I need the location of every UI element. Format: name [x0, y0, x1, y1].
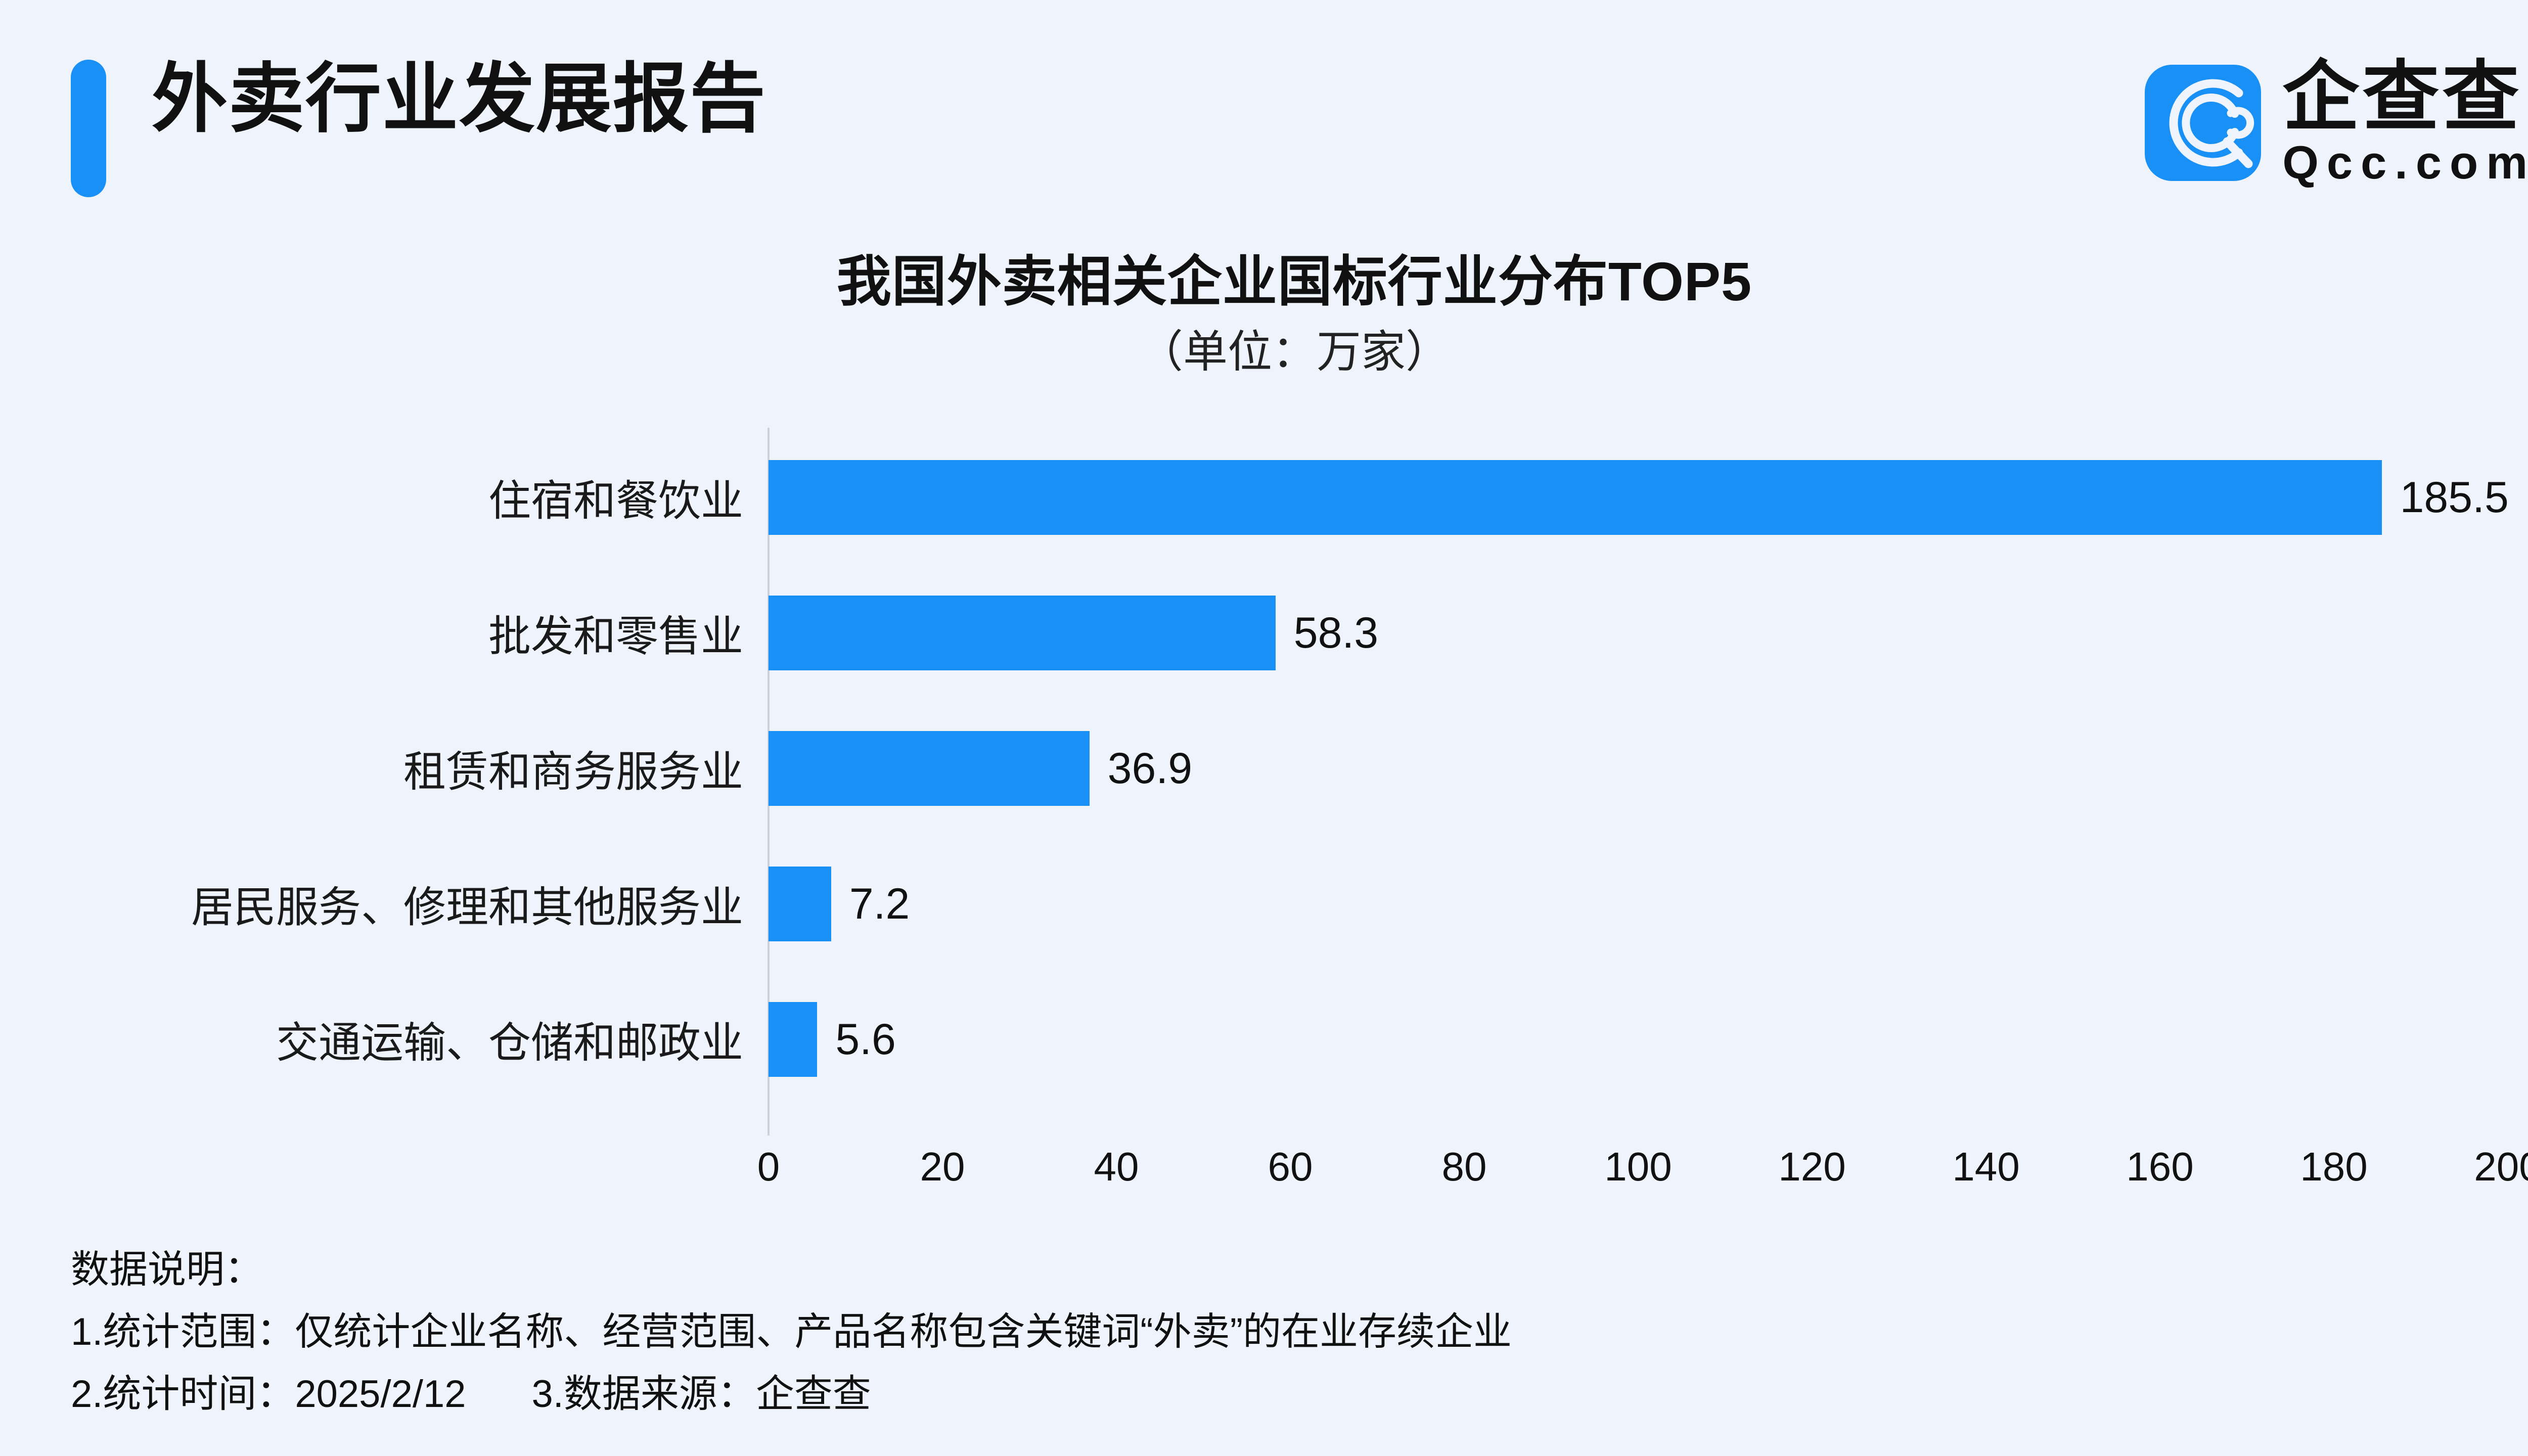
x-tick-label: 100	[1604, 1144, 1672, 1190]
bar-group: 36.9	[769, 731, 1192, 806]
bar	[769, 596, 1276, 670]
footnote-line-1: 1.统计范围：仅统计企业名称、经营范围、产品名称包含关键词“外卖”的在业存续企业	[71, 1301, 2498, 1363]
bar-row: 居民服务、修理和其他服务业7.2	[0, 836, 2528, 972]
footnote-line-2: 2.统计时间：2025/2/123.数据来源：企查查	[71, 1363, 2498, 1425]
bar-value-label: 36.9	[1108, 744, 1192, 794]
bar-value-label: 5.6	[835, 1015, 896, 1065]
page-header: 外卖行业发展报告 企查查 Qcc.com	[0, 0, 2528, 202]
brand-name-cn: 企查查	[2282, 58, 2528, 136]
bar-row: 交通运输、仓储和邮政业5.6	[0, 972, 2528, 1107]
x-tick-label: 60	[1268, 1144, 1313, 1190]
chart-subtitle: （单位：万家）	[0, 316, 2528, 380]
bar-value-label: 7.2	[849, 879, 910, 929]
title-accent-bar	[71, 60, 106, 197]
bar-row: 租赁和商务服务业36.9	[0, 701, 2528, 836]
bar	[769, 460, 2382, 535]
bar-row: 住宿和餐饮业185.5	[0, 430, 2528, 565]
bar	[769, 1002, 817, 1077]
x-tick-label: 160	[2126, 1144, 2193, 1190]
x-tick-label: 200	[2474, 1144, 2528, 1190]
chart-title: 我国外卖相关企业国标行业分布TOP5	[0, 238, 2528, 316]
x-tick-label: 80	[1442, 1144, 1487, 1190]
brand-domain: Qcc.com	[2282, 139, 2528, 188]
category-label: 住宿和餐饮业	[0, 467, 743, 528]
category-label: 交通运输、仓储和邮政业	[0, 1009, 743, 1070]
category-label: 居民服务、修理和其他服务业	[0, 874, 743, 935]
bar-group: 7.2	[769, 867, 910, 941]
bar-value-label: 185.5	[2400, 473, 2509, 523]
bar-group: 58.3	[769, 596, 1378, 670]
footnotes: 数据说明： 1.统计范围：仅统计企业名称、经营范围、产品名称包含关键词“外卖”的…	[71, 1239, 2498, 1425]
x-axis-ticks: 020406080100120140160180200	[0, 1144, 2528, 1204]
qcc-spiral-logo-icon	[2145, 65, 2261, 181]
bar-row: 批发和零售业58.3	[0, 565, 2528, 701]
bar-group: 5.6	[769, 1002, 896, 1077]
x-tick-label: 0	[757, 1144, 780, 1190]
brand-wordmark: 企查查 Qcc.com	[2282, 58, 2528, 188]
x-tick-label: 180	[2300, 1144, 2367, 1190]
bar	[769, 731, 1090, 806]
x-tick-label: 20	[920, 1144, 965, 1190]
footnote-heading: 数据说明：	[71, 1239, 2498, 1301]
page-title: 外卖行业发展报告	[152, 61, 766, 136]
x-tick-label: 140	[1952, 1144, 2019, 1190]
footnote-data-source: 3.数据来源：企查查	[532, 1373, 871, 1416]
bar-value-label: 58.3	[1294, 608, 1378, 658]
footnote-stat-time: 2.统计时间：2025/2/12	[71, 1373, 466, 1416]
category-label: 租赁和商务服务业	[0, 738, 743, 799]
category-label: 批发和零售业	[0, 603, 743, 664]
bar	[769, 867, 831, 941]
brand-logo[interactable]: 企查查 Qcc.com	[2145, 58, 2528, 188]
x-tick-label: 40	[1094, 1144, 1139, 1190]
bar-group: 185.5	[769, 460, 2509, 535]
x-tick-label: 120	[1778, 1144, 1845, 1190]
bar-chart-plot: 住宿和餐饮业185.5批发和零售业58.3租赁和商务服务业36.9居民服务、修理…	[0, 420, 2528, 1137]
